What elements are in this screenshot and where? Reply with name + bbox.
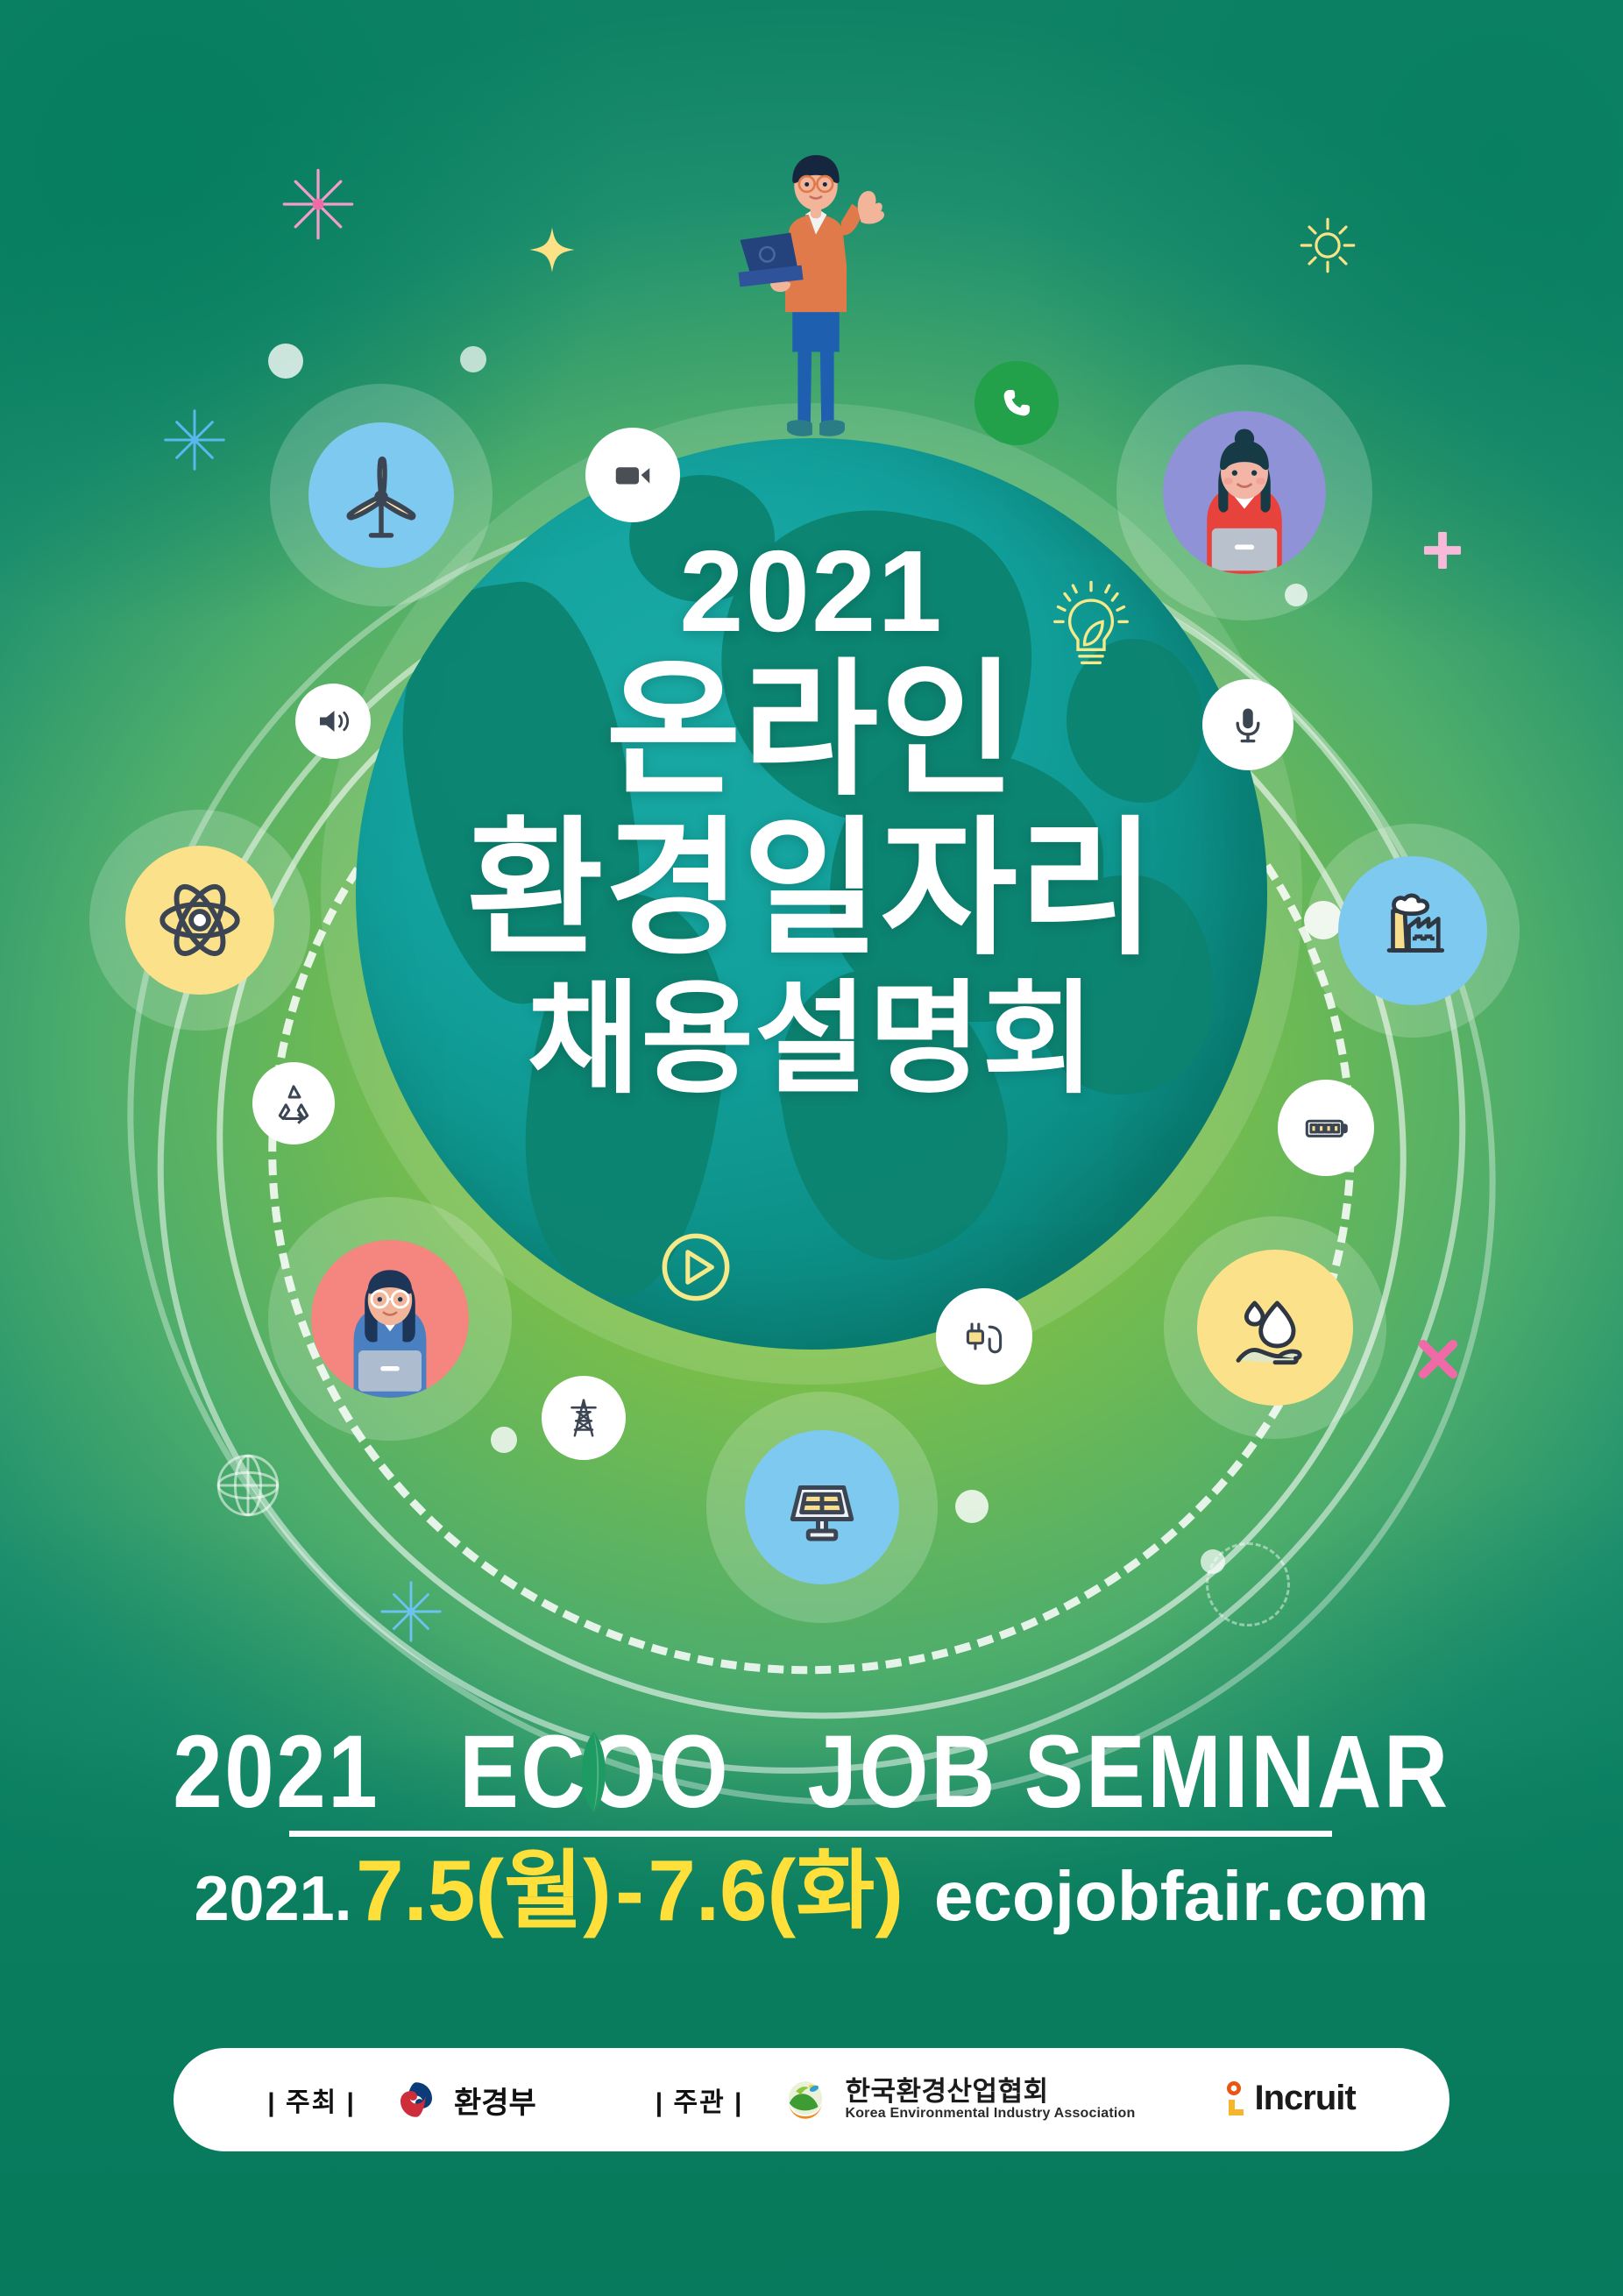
date-prefix: 2021. [194, 1864, 351, 1934]
incruit-mark-icon [1224, 2080, 1251, 2119]
sparkle-pink-icon [280, 167, 356, 242]
badge-phone[interactable] [975, 361, 1059, 445]
orbit-dot [268, 344, 303, 379]
organizer-label: | 주관 | [656, 2080, 744, 2119]
power-tower-icon [560, 1394, 607, 1442]
partner-name: Incruit [1254, 2080, 1355, 2115]
date-dash: - [615, 1842, 644, 1938]
event-date-line: 2021. 7.5(월) - 7.6(화) ecojobfair.com [0, 1847, 1623, 1933]
host-logo: 환경부 [393, 2076, 536, 2123]
badge-water-drop[interactable] [1183, 1236, 1367, 1420]
title-line-3: 채용설명회 [0, 971, 1623, 1109]
badge-power-plug[interactable] [936, 1288, 1032, 1385]
divider-rule [289, 1831, 1332, 1837]
orbit-dot [955, 1490, 989, 1523]
battery-icon [1299, 1101, 1353, 1155]
organizer-name-en: Korea Environmental Industry Association [845, 2107, 1135, 2122]
logotype-seminar: JOB SEMINAR [808, 1714, 1450, 1830]
event-logotype: 2021 ECOO JOB SEMINAR [114, 1720, 1510, 1824]
organizer-name-ko: 한국환경산업협회 [845, 2078, 1135, 2107]
poster-canvas: 2021 온라인 환경일자리 채용설명회 2021 ECOO JOB SEMIN… [0, 0, 1623, 2296]
logotype-eco: ECO [459, 1714, 659, 1830]
badge-avatar-person[interactable] [289, 1218, 491, 1420]
globe-grid-icon [209, 1446, 287, 1525]
event-url[interactable]: ecojobfair.com [934, 1857, 1429, 1935]
title-year: 2021 [0, 533, 1623, 651]
orbit-dot [491, 1427, 517, 1453]
logotype-eco-wrap: ECOO [459, 1720, 728, 1824]
organizer-logo: 한국환경산업협회 Korea Environmental Industry As… [780, 2074, 1135, 2125]
host-label: | 주최 | [267, 2080, 356, 2119]
leaf-icon [571, 1726, 617, 1818]
solar-panel-icon [775, 1460, 869, 1555]
presenter-character [706, 153, 925, 460]
sun-icon [1297, 215, 1358, 276]
close-x-pink-icon [1411, 1332, 1465, 1386]
video-camera-icon [608, 450, 657, 500]
kea-emblem-icon [780, 2074, 831, 2125]
host-name: 환경부 [454, 2079, 536, 2122]
power-plug-icon [957, 1309, 1011, 1364]
presenter-character-illustration [706, 153, 925, 460]
taegeuk-icon [393, 2076, 440, 2123]
logotype-year: 2021 [173, 1714, 379, 1830]
sparkle-blue-icon [162, 407, 227, 472]
water-drop-hand-icon [1226, 1279, 1324, 1377]
title-line-2: 환경일자리 [0, 810, 1623, 971]
avatar-person-icon [311, 1240, 469, 1398]
sparkle-yellow-icon [526, 223, 578, 276]
title-line-1: 온라인 [0, 651, 1623, 810]
sponsor-bar: | 주최 | 환경부 | 주관 | 한국환경산업협회 Korea Environ… [174, 2048, 1449, 2151]
partner-logo: Incruit [1224, 2080, 1355, 2119]
wind-turbine-icon [333, 447, 429, 543]
date-end: 7.6(화) [648, 1842, 904, 1938]
sparkle-blue-small-icon [377, 1577, 445, 1646]
badge-power-tower[interactable] [542, 1376, 626, 1460]
date-start: 7.5(월) [356, 1842, 612, 1938]
phone-icon [996, 382, 1038, 424]
poster-title: 2021 온라인 환경일자리 채용설명회 [0, 533, 1623, 1108]
badge-video-camera[interactable] [585, 428, 680, 522]
organizer-name-block: 한국환경산업협회 Korea Environmental Industry As… [845, 2078, 1135, 2121]
play-button-icon[interactable] [656, 1227, 736, 1307]
orbit-dot [460, 346, 486, 372]
badge-solar-panel[interactable] [726, 1411, 918, 1604]
orbit-dotted-ring [1206, 1542, 1290, 1626]
